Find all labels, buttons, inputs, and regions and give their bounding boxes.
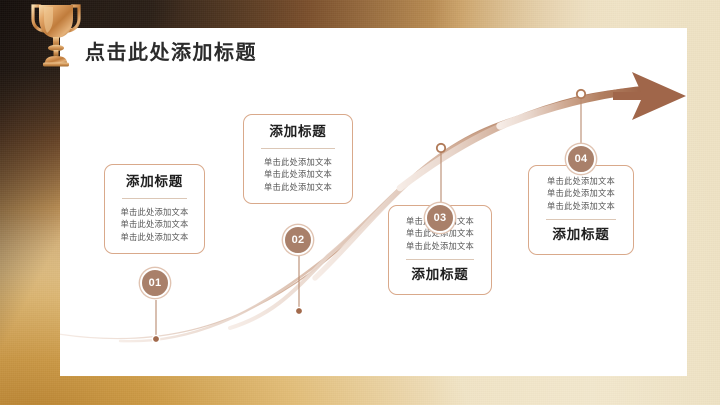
- step-card-01-heading: 添加标题: [113, 174, 196, 191]
- step-card-04-divider: [546, 219, 616, 220]
- curve-node-03: [437, 144, 445, 152]
- arrow-right-icon: [613, 72, 686, 120]
- step-card-01-line-1: 单击此处添加文本: [113, 206, 196, 218]
- step-card-02-body: 单击此处添加文本 单击此处添加文本 单击此处添加文本: [252, 156, 344, 193]
- step-card-01-line-3: 单击此处添加文本: [113, 231, 196, 243]
- step-card-01-divider: [122, 198, 187, 199]
- page-title: 点击此处添加标题: [85, 36, 257, 65]
- step-card-03-divider: [406, 259, 474, 260]
- step-card-02-heading: 添加标题: [252, 124, 344, 141]
- trophy-icon: [26, 0, 86, 68]
- step-card-04-line-3: 单击此处添加文本: [537, 200, 625, 212]
- curve-node-04: [577, 90, 585, 98]
- step-card-02-divider: [261, 148, 335, 149]
- step-card-03-line-3: 单击此处添加文本: [397, 240, 483, 252]
- step-card-04-line-1: 单击此处添加文本: [537, 175, 625, 187]
- curve-node-01: [152, 335, 159, 342]
- step-card-01-body: 单击此处添加文本 单击此处添加文本 单击此处添加文本: [113, 206, 196, 243]
- step-card-04-heading: 添加标题: [537, 227, 625, 244]
- step-card-02-line-2: 单击此处添加文本: [252, 168, 344, 180]
- step-badge-03[interactable]: 03: [425, 203, 455, 233]
- step-badge-04[interactable]: 04: [566, 144, 596, 174]
- step-badge-01[interactable]: 01: [140, 268, 170, 298]
- step-card-03-heading: 添加标题: [397, 267, 483, 284]
- step-card-04-line-2: 单击此处添加文本: [537, 187, 625, 199]
- step-card-01[interactable]: 添加标题 单击此处添加文本 单击此处添加文本 单击此处添加文本: [104, 164, 205, 254]
- step-card-01-line-2: 单击此处添加文本: [113, 218, 196, 230]
- step-card-04[interactable]: 单击此处添加文本 单击此处添加文本 单击此处添加文本 添加标题: [528, 165, 634, 255]
- step-card-04-body: 单击此处添加文本 单击此处添加文本 单击此处添加文本: [537, 175, 625, 212]
- curve-node-02: [295, 307, 302, 314]
- step-card-02-line-3: 单击此处添加文本: [252, 181, 344, 193]
- step-badge-02[interactable]: 02: [283, 225, 313, 255]
- step-card-02-line-1: 单击此处添加文本: [252, 156, 344, 168]
- step-card-02[interactable]: 添加标题 单击此处添加文本 单击此处添加文本 单击此处添加文本: [243, 114, 353, 204]
